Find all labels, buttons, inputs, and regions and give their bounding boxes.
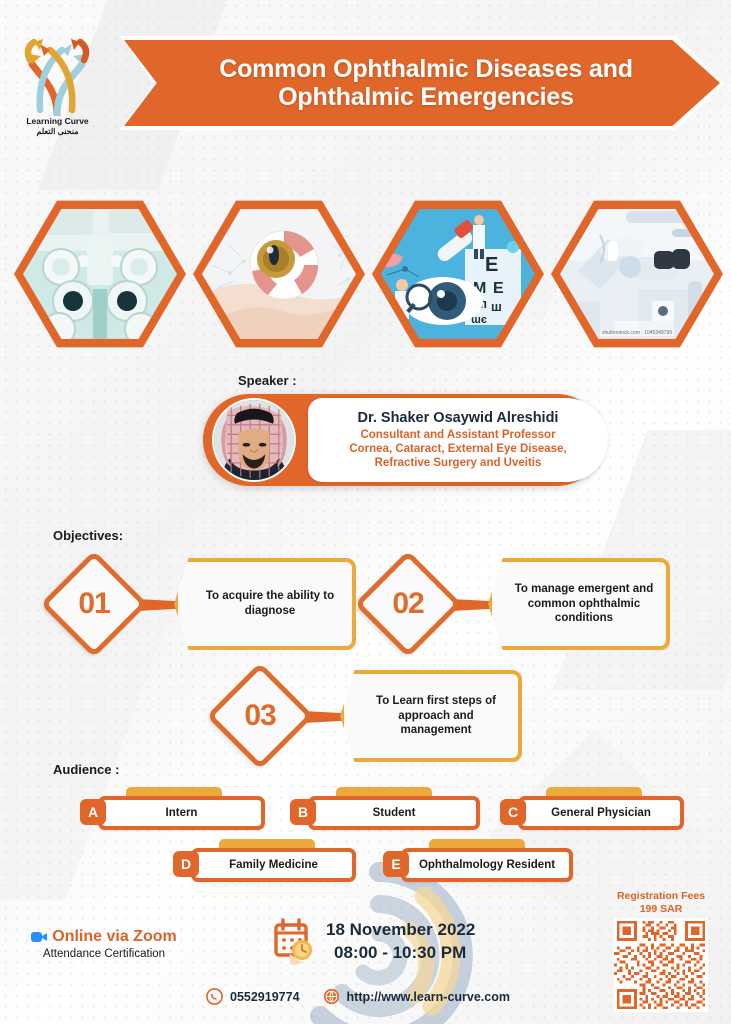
brand-logo: Learning Curve منحنى التعلم: [10, 30, 105, 140]
svg-text:E: E: [493, 280, 504, 297]
logo-name: Learning Curve: [10, 117, 105, 127]
audience-text: Student: [373, 807, 416, 819]
objective-text: To acquire the ability to diagnose: [178, 589, 352, 619]
poster-footer: Online via Zoom Attendance Certification…: [0, 890, 731, 1024]
objective-text: To manage emergent and common ophthalmic…: [492, 582, 666, 627]
event-datetime: 18 November 2022 08:00 - 10:30 PM: [326, 919, 475, 965]
page-title-line2: Ophthalmic Emergencies: [278, 83, 574, 111]
page-title: Common Ophthalmic Diseases and Ophthalmi…: [211, 55, 633, 112]
audience-text: Ophthalmology Resident: [419, 859, 555, 871]
whatsapp-icon[interactable]: [206, 988, 223, 1005]
event-date: 18 November 2022: [326, 919, 475, 942]
objective-text-box: To manage emergent and common ophthalmic…: [488, 558, 670, 650]
audience-box: Family Medicine: [191, 848, 356, 882]
speaker-portrait: [214, 400, 294, 480]
objective-text-box: To acquire the ability to diagnose: [174, 558, 356, 650]
calendar-clock-icon: [272, 918, 318, 966]
speaker-role: Consultant and Assistant Professor Corne…: [349, 428, 566, 470]
certification-label: Attendance Certification: [14, 948, 194, 960]
svg-text:E: E: [485, 254, 498, 276]
contact-row: 0552919774 http://www.learn-curve.com: [206, 988, 510, 1005]
audience-box: General Physician: [518, 796, 684, 830]
gallery-hex-4: shutterstock.com · 1045349799: [551, 196, 723, 352]
speaker-label: Speaker :: [238, 373, 297, 388]
objectives-section: Objectives: 01 To acquire the ability to…: [0, 528, 731, 758]
audience-letter: A: [80, 799, 106, 825]
audience-item-d: Family Medicine D: [173, 848, 358, 882]
audience-box: Ophthalmology Resident: [401, 848, 573, 882]
audience-item-e: Ophthalmology Resident E: [383, 848, 573, 882]
poster-canvas: Learning Curve منحنى التعلم Common Ophth…: [0, 0, 731, 1024]
audience-item-a: Intern A: [80, 796, 265, 830]
speaker-name: Dr. Shaker Osaywid Alreshidi: [358, 410, 559, 426]
audience-text: Family Medicine: [229, 859, 318, 871]
contact-phone[interactable]: 0552919774: [230, 990, 300, 1004]
audience-box: Intern: [98, 796, 265, 830]
speaker-role-line3: Refractive Surgery and Uveitis: [375, 457, 542, 469]
zoom-camera-icon: [31, 931, 47, 943]
svg-text:ш: ш: [491, 299, 502, 314]
speaker-section: Speaker : Dr. Shaker Osaywid Alreshidi C…: [0, 370, 731, 520]
zoom-platform-block: Online via Zoom Attendance Certification: [14, 928, 194, 960]
audience-item-c: General Physician C: [500, 796, 685, 830]
audience-letter: C: [500, 799, 526, 825]
audience-text: General Physician: [551, 807, 651, 819]
speaker-role-line1: Consultant and Assistant Professor: [360, 429, 555, 441]
registration-qr-code[interactable]: [614, 918, 708, 1012]
speaker-avatar: [212, 398, 296, 482]
image-watermark: shutterstock.com · 1045349799: [600, 330, 674, 336]
logo-name-arabic: منحنى التعلم: [10, 127, 105, 136]
poster-header: Learning Curve منحنى التعلم Common Ophth…: [0, 26, 731, 146]
objective-item-3: 03 To Learn first steps of approach and …: [222, 670, 522, 762]
image-gallery: E M E ш ш эm: [0, 196, 731, 356]
page-title-line1: Common Ophthalmic Diseases and: [219, 55, 633, 83]
objectives-label: Objectives:: [53, 528, 123, 543]
audience-box: Student: [308, 796, 480, 830]
objective-text-box: To Learn first steps of approach and man…: [340, 670, 522, 762]
event-time: 08:00 - 10:30 PM: [326, 942, 475, 965]
objective-number: 02: [370, 566, 446, 642]
objective-item-2: 02 To manage emergent and common ophthal…: [370, 558, 670, 650]
gallery-hex-2: [193, 196, 365, 352]
audience-letter: D: [173, 851, 199, 877]
speaker-role-line2: Cornea, Cataract, External Eye Disease,: [349, 443, 566, 455]
audience-item-b: Student B: [290, 796, 480, 830]
objective-text: To Learn first steps of approach and man…: [344, 694, 518, 739]
gallery-hex-1: [14, 196, 186, 352]
learning-curve-logo-icon: [10, 30, 105, 116]
title-banner: Common Ophthalmic Diseases and Ophthalmi…: [124, 40, 720, 126]
audience-letter: B: [290, 799, 316, 825]
gallery-hex-3: E M E ш ш эm: [372, 196, 544, 352]
fees-label: Registration Fees: [605, 890, 717, 903]
speaker-card: Dr. Shaker Osaywid Alreshidi Consultant …: [308, 398, 608, 482]
platform-label: Online via Zoom: [52, 928, 176, 946]
objective-number: 03: [222, 678, 298, 754]
registration-qr-block: Registration Fees 199 SAR: [605, 890, 717, 1012]
contact-website[interactable]: http://www.learn-curve.com: [347, 990, 510, 1004]
audience-text: Intern: [166, 807, 198, 819]
globe-icon[interactable]: [323, 988, 340, 1005]
fees-amount: 199 SAR: [605, 903, 717, 916]
audience-label: Audience :: [53, 762, 119, 777]
objective-item-1: 01 To acquire the ability to diagnose: [56, 558, 356, 650]
audience-letter: E: [383, 851, 409, 877]
objective-number: 01: [56, 566, 132, 642]
